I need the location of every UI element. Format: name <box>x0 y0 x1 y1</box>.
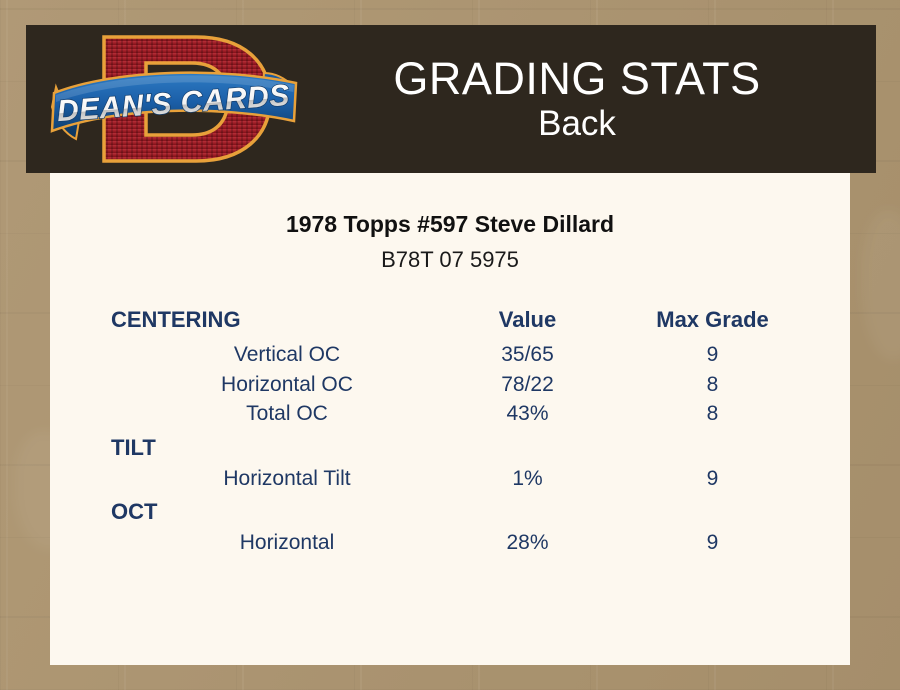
stat-value: 43% <box>435 399 620 429</box>
column-header-value: Value <box>435 307 620 340</box>
stat-label: Horizontal OC <box>105 370 435 400</box>
stat-row: Total OC43%8 <box>105 399 805 429</box>
background-blotch <box>862 210 900 360</box>
section-label-oct: OCT <box>105 493 435 527</box>
stat-label: Vertical OC <box>105 340 435 370</box>
stat-label: Horizontal <box>105 528 435 558</box>
stat-max-grade: 8 <box>620 399 805 429</box>
stat-value: 28% <box>435 528 620 558</box>
section-spacer <box>620 429 805 463</box>
section-spacer <box>435 429 620 463</box>
page-subtitle: Back <box>304 106 850 143</box>
grading-stats-page: DEAN'S CARDS GRADING STATS Back 1978 Top… <box>0 0 900 690</box>
stat-row: Horizontal OC78/228 <box>105 370 805 400</box>
column-header-max-grade: Max Grade <box>620 307 805 340</box>
content-panel: 1978 Topps #597 Steve Dillard B78T 07 59… <box>50 173 850 665</box>
section-label-tilt: TILT <box>105 429 435 463</box>
card-serial-number: B78T 07 5975 <box>50 247 850 273</box>
section-spacer <box>435 493 620 527</box>
grading-stats-table: CENTERINGValueMax GradeVertical OC35/659… <box>105 307 805 557</box>
page-title: GRADING STATS <box>304 55 850 102</box>
stat-value: 35/65 <box>435 340 620 370</box>
section-header-row: OCT <box>105 493 805 527</box>
stat-row: Vertical OC35/659 <box>105 340 805 370</box>
stat-value: 78/22 <box>435 370 620 400</box>
section-label-centering: CENTERING <box>105 307 435 340</box>
stat-max-grade: 9 <box>620 464 805 494</box>
deans-cards-logo[interactable]: DEAN'S CARDS <box>46 29 304 169</box>
stat-max-grade: 9 <box>620 528 805 558</box>
stat-label: Horizontal Tilt <box>105 464 435 494</box>
header-bar: DEAN'S CARDS GRADING STATS Back <box>26 25 876 173</box>
stat-max-grade: 9 <box>620 340 805 370</box>
header-titles: GRADING STATS Back <box>304 55 876 143</box>
stat-max-grade: 8 <box>620 370 805 400</box>
stat-row: Horizontal Tilt1%9 <box>105 464 805 494</box>
stat-value: 1% <box>435 464 620 494</box>
card-title: 1978 Topps #597 Steve Dillard <box>50 211 850 238</box>
section-header-row: TILT <box>105 429 805 463</box>
stat-label: Total OC <box>105 399 435 429</box>
logo-artwork: DEAN'S CARDS <box>46 29 304 169</box>
section-header-row: CENTERINGValueMax Grade <box>105 307 805 340</box>
section-spacer <box>620 493 805 527</box>
stat-row: Horizontal28%9 <box>105 528 805 558</box>
